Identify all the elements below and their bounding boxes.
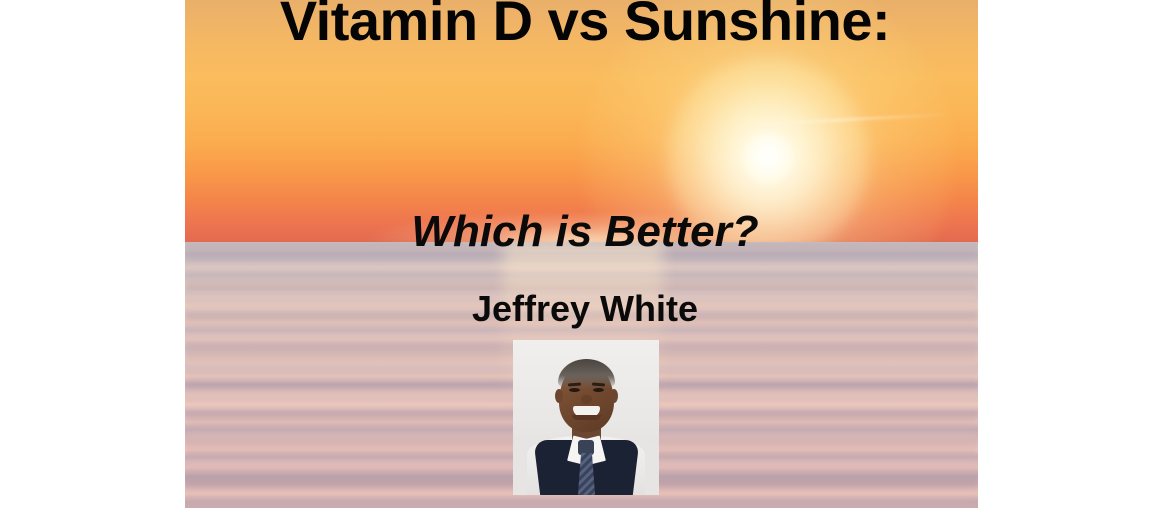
slide-subtitle: Which is Better? <box>0 209 1170 255</box>
headshot-tie-knot <box>578 440 594 455</box>
headshot-eye-left <box>569 388 580 392</box>
presenter-headshot-photo <box>513 340 659 495</box>
headshot-nose <box>581 395 592 404</box>
presenter-name: Jeffrey White <box>0 290 1170 328</box>
headshot-eye-right <box>593 388 604 392</box>
headshot-ear-right <box>610 389 618 403</box>
page-title: Vitamin D vs Sunshine: <box>0 0 1170 51</box>
headshot-lower-lip <box>572 415 601 420</box>
sun-disc <box>742 132 794 184</box>
headshot-ear-left <box>555 389 563 403</box>
presentation-slide: Vitamin D vs Sunshine: Which is Better? … <box>0 0 1170 508</box>
